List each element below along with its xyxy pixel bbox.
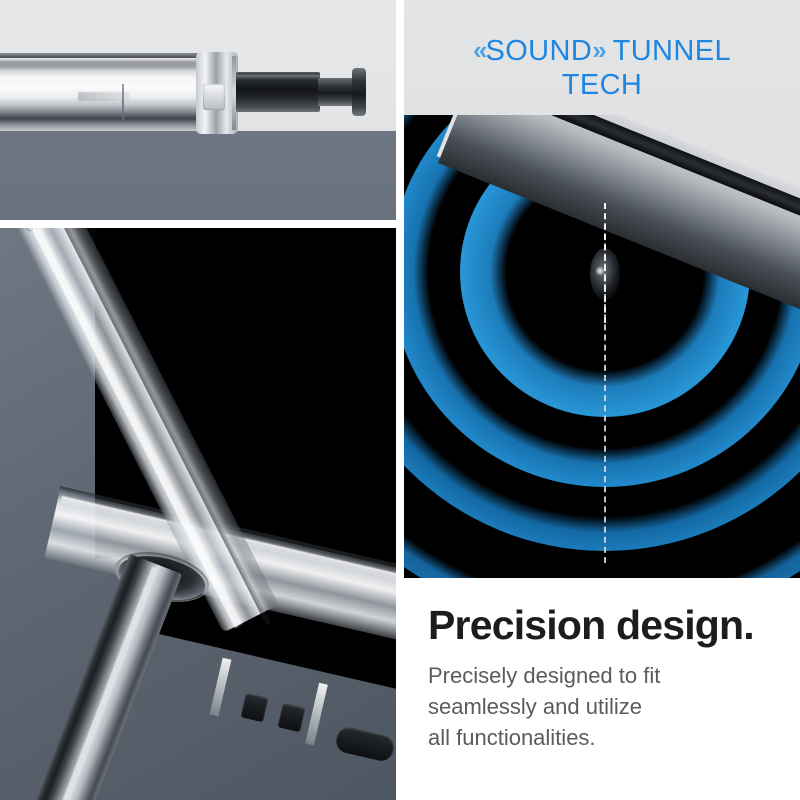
dashed-centerline-upper (604, 203, 606, 323)
case-cutout-speaker-grille (334, 725, 396, 763)
sound-tunnel-heading: «SOUND» TUNNEL TECH (404, 0, 800, 102)
heading-word-tunnel: TUNNEL (613, 35, 731, 67)
barrel-seam (122, 84, 124, 122)
caption-body: Precisely designed to fit seamlessly and… (428, 660, 660, 754)
backdrop-lower (0, 131, 396, 220)
panel-sound-visual (404, 115, 800, 578)
heading-word-sound: SOUND (485, 35, 592, 67)
panel-stylus-top (0, 0, 396, 220)
case-rail-strut-right (305, 683, 328, 745)
spen-end-cap (352, 68, 366, 116)
spen-body (0, 554, 182, 800)
heading-line-1: «SOUND» TUNNEL (404, 34, 800, 68)
heading-line-2: TECH (404, 68, 800, 102)
speaker-port-glint (596, 267, 604, 275)
caption-body-line-1: Precisely designed to fit (428, 660, 660, 691)
panel-sound-header: «SOUND» TUNNEL TECH (404, 0, 800, 115)
case-cap-notch (203, 84, 225, 110)
chevron-left-icon: « (473, 35, 485, 65)
panel-caption: Precision design. Precisely designed to … (404, 578, 800, 800)
case-cutout-microphone (240, 693, 268, 723)
caption-title: Precision design. (428, 602, 754, 649)
spen-neck (318, 78, 356, 106)
case-rail-strut-left (210, 658, 232, 717)
product-marketing-image: spigen «SOUND» TUNNEL TECH (0, 0, 800, 800)
caption-body-line-2: seamlessly and utilize (428, 691, 660, 722)
chevron-right-icon: » (592, 35, 604, 65)
panel-case-corner: spigen (0, 228, 396, 800)
spen-shaft-highlight (236, 75, 320, 80)
caption-body-line-3: all functionalities. (428, 722, 660, 753)
case-cutout-usb-port (277, 703, 305, 733)
